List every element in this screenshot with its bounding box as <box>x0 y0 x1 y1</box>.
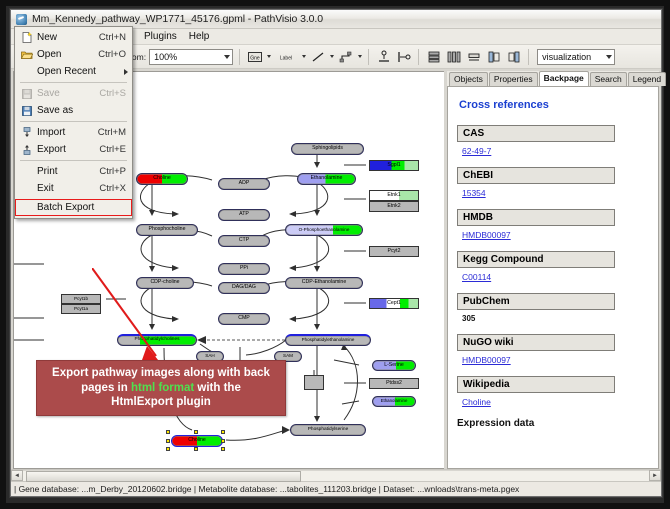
node-label: CTP <box>239 238 249 243</box>
node-label: Sphingolipids <box>312 146 343 151</box>
toolbar-separator <box>239 49 240 65</box>
node-label: ADP <box>239 181 250 186</box>
node-atp[interactable]: ATP <box>218 209 270 221</box>
menu-item-exit-label: Exit <box>34 183 99 194</box>
line-dropdown-icon[interactable] <box>330 55 334 58</box>
resize-handle-se[interactable] <box>221 447 225 451</box>
menu-item-print-accel: Ctrl+P <box>99 166 128 177</box>
node-label: DAG/DAG <box>232 285 256 290</box>
zoom-value: 100% <box>154 52 177 62</box>
node-pemt[interactable] <box>304 375 324 390</box>
menu-item-open-recent-label: Open Recent <box>34 66 124 77</box>
scrollbar-thumb[interactable] <box>26 471 301 482</box>
node-label: Pcyt1b <box>74 297 88 302</box>
visualization-value: visualization <box>542 52 591 62</box>
annot-line2a: pages in <box>81 382 131 394</box>
tab-backpage[interactable]: Backpage <box>539 71 589 86</box>
xref-value-chebi[interactable]: 15354 <box>462 188 649 198</box>
node-adp[interactable]: ADP <box>218 178 270 190</box>
menu-item-new[interactable]: New Ctrl+N <box>15 29 132 46</box>
node-label: SAM <box>283 354 293 359</box>
node-choline-selected[interactable]: Choline <box>171 435 223 447</box>
node-cdp-ethanolamine[interactable]: CDP-Ethanolamine <box>285 277 363 289</box>
annot-line3: HtmlExport plugin <box>111 396 211 408</box>
line-tool-icon[interactable] <box>309 48 326 66</box>
datanode-dropdown-icon[interactable] <box>267 55 271 58</box>
interaction-dropdown-icon[interactable] <box>358 55 362 58</box>
menu-item-import[interactable]: Import Ctrl+M <box>15 124 132 141</box>
menu-item-print[interactable]: Print Ctrl+P <box>15 163 132 180</box>
node-ptdss2[interactable]: Ptdss2 <box>369 378 419 389</box>
xref-value-kegg[interactable]: C00114 <box>462 272 649 282</box>
xref-link-hmdb[interactable]: HMDB00097 <box>462 230 511 240</box>
node-label: SAH <box>205 354 214 359</box>
datanode-tool-icon[interactable]: Gne <box>246 48 263 66</box>
node-choline[interactable]: Choline <box>136 173 188 185</box>
export-icon <box>19 144 34 155</box>
horizontal-scrollbar[interactable]: ◄ ► <box>11 469 661 481</box>
resize-handle-ne[interactable] <box>221 430 225 434</box>
node-etnk2[interactable]: Etnk2 <box>369 201 419 212</box>
xref-value-cas[interactable]: 62-49-7 <box>462 146 649 156</box>
callout-arrow-icon <box>92 268 192 373</box>
node-label: Pcyt2 <box>388 249 401 254</box>
annot-line2b: with the <box>194 382 241 394</box>
scrollbar-track[interactable] <box>23 470 649 481</box>
menu-help[interactable]: Help <box>183 29 216 44</box>
node-label: CMP <box>238 316 250 321</box>
menu-item-export-accel: Ctrl+E <box>99 144 128 155</box>
send-to-back-icon[interactable] <box>505 48 522 66</box>
menu-separator-2 <box>20 121 127 122</box>
tab-search[interactable]: Search <box>590 72 627 86</box>
menu-item-save[interactable]: Save Ctrl+S <box>15 85 132 102</box>
node-pcyt2[interactable]: Pcyt2 <box>369 246 419 257</box>
node-label: Cept1 <box>387 301 401 306</box>
xref-value-pubchem: 305 <box>462 314 649 323</box>
menu-item-import-accel: Ctrl+M <box>98 127 128 138</box>
resize-handle-w[interactable] <box>166 439 170 443</box>
resize-handle-s[interactable] <box>194 447 198 451</box>
same-width-icon[interactable] <box>465 48 482 66</box>
resize-handle-n[interactable] <box>194 430 198 434</box>
backpage-content: Cross references CAS 62-49-7 ChEBI 15354… <box>447 86 659 469</box>
menu-separator-3 <box>20 160 127 161</box>
node-label: Ethanolamine <box>311 176 343 181</box>
menu-item-open-accel: Ctrl+O <box>98 49 128 60</box>
xref-link-kegg[interactable]: C00114 <box>462 272 491 282</box>
xref-value-hmdb[interactable]: HMDB00097 <box>462 230 649 240</box>
distribute-horizontal-icon[interactable] <box>445 48 462 66</box>
menu-item-save-accel: Ctrl+S <box>99 88 128 99</box>
menu-item-exit-accel: Ctrl+X <box>99 183 128 194</box>
annot-line1: Export pathway images along with back <box>52 367 270 379</box>
bring-to-front-icon[interactable] <box>485 48 502 66</box>
import-icon <box>19 127 34 138</box>
menu-item-new-accel: Ctrl+N <box>99 32 128 43</box>
chevron-down-icon-2 <box>606 55 612 59</box>
status-text: | Gene database: ...m_Derby_20120602.bri… <box>14 484 519 494</box>
node-l-serine[interactable]: L-Serine <box>372 360 416 371</box>
pathvisio-window: Mm_Kennedy_pathway_WP1771_45176.gpml - P… <box>10 9 662 497</box>
window-title: Mm_Kennedy_pathway_WP1771_45176.gpml - P… <box>32 13 323 25</box>
svg-text:Gne: Gne <box>250 55 260 61</box>
xref-link-cas[interactable]: 62-49-7 <box>462 146 491 156</box>
node-label: ATP <box>239 212 249 217</box>
screenshot-root: Mm_Kennedy_pathway_WP1771_45176.gpml - P… <box>0 0 670 509</box>
node-ctp[interactable]: CTP <box>218 235 270 247</box>
interaction-tool-icon[interactable] <box>337 48 354 66</box>
menu-item-save-label: Save <box>34 88 99 99</box>
label-dropdown-icon[interactable] <box>302 55 306 58</box>
node-etnk1[interactable]: Etnk1 <box>369 190 419 201</box>
visualization-combo[interactable]: visualization <box>537 49 615 65</box>
menu-item-open-recent[interactable]: Open Recent <box>15 63 132 80</box>
toolbar-separator-3 <box>418 49 419 65</box>
align-left-icon[interactable] <box>395 48 412 66</box>
node-phosphatidylethanolamine[interactable]: Phosphatidylethanolamine <box>285 334 371 346</box>
menu-item-open[interactable]: Open Ctrl+O <box>15 46 132 63</box>
node-label: Phosphocholine <box>149 227 186 232</box>
xref-value-nugo[interactable]: HMDB00097 <box>462 355 649 365</box>
xref-header-chebi: ChEBI <box>457 167 615 184</box>
label-tool-icon[interactable]: Label <box>274 48 298 66</box>
node-label: O-Phosphoethanolamine <box>299 228 350 233</box>
menu-item-import-label: Import <box>34 127 98 138</box>
node-label: Phosphatidylserine <box>308 428 349 433</box>
xref-header-cas: CAS <box>457 125 615 142</box>
node-ppi[interactable]: PPi <box>218 263 270 275</box>
node-label: Phosphatidylethanolamine <box>302 338 355 343</box>
node-label: Etnk2 <box>387 204 400 209</box>
node-label: L-Serine <box>384 363 404 368</box>
menu-item-exit[interactable]: Exit Ctrl+X <box>15 180 132 197</box>
node-label: Sgpl1 <box>387 163 400 168</box>
tab-properties[interactable]: Properties <box>489 72 538 86</box>
node-label: PPi <box>240 266 248 271</box>
stack-center-icon[interactable] <box>425 48 442 66</box>
node-label: Choline <box>153 176 171 181</box>
xref-header-nugo: NuGO wiki <box>457 334 615 351</box>
xref-header-kegg: Kegg Compound <box>457 251 615 268</box>
node-sgpl1[interactable]: Sgpl1 <box>369 160 419 171</box>
menu-item-new-label: New <box>34 32 99 43</box>
node-cept1[interactable]: Cept1 <box>369 298 419 309</box>
backpage-heading: Cross references <box>459 99 649 111</box>
node-o-phosphoethanolamine[interactable]: O-Phosphoethanolamine <box>285 224 363 236</box>
node-label: CDP-Ethanolamine <box>302 280 346 285</box>
svg-text:Label: Label <box>280 55 292 61</box>
chevron-down-icon <box>224 55 230 59</box>
resize-handle-nw[interactable] <box>166 430 170 434</box>
menu-item-batch-export-label: Batch Export <box>34 202 128 213</box>
menu-item-batch-export[interactable]: Batch Export <box>15 199 132 216</box>
tab-legend[interactable]: Legend <box>628 72 666 86</box>
node-ethanolamine-2[interactable]: Ethanolamine <box>372 396 416 407</box>
node-label: Ethanolamine <box>381 399 408 403</box>
menu-item-open-label: Open <box>34 49 98 60</box>
new-document-icon <box>19 32 34 43</box>
save-disk-icon <box>19 89 34 99</box>
save-as-disk-icon <box>19 106 34 116</box>
toolbar-separator-4 <box>528 49 529 65</box>
node-label: Etnk1 <box>387 193 400 198</box>
resize-handle-e[interactable] <box>221 439 225 443</box>
menu-item-print-label: Print <box>34 166 99 177</box>
side-panel: Objects Properties Backpage Search Legen… <box>447 71 659 469</box>
scroll-left-arrow-icon[interactable]: ◄ <box>11 470 23 481</box>
node-label: Pcyt1a <box>74 307 88 312</box>
tab-objects[interactable]: Objects <box>449 72 488 86</box>
node-sphingolipids[interactable]: Sphingolipids <box>291 143 364 155</box>
resize-handle-sw[interactable] <box>166 447 170 451</box>
xref-link-wikipedia[interactable]: Choline <box>462 397 491 407</box>
submenu-arrow-icon <box>124 69 128 75</box>
side-panel-tabs: Objects Properties Backpage Search Legen… <box>447 71 659 86</box>
menu-separator-1 <box>20 82 127 83</box>
align-top-icon[interactable] <box>375 48 392 66</box>
zoom-combo[interactable]: 100% <box>149 49 233 65</box>
menu-item-export[interactable]: Export Ctrl+E <box>15 141 132 158</box>
scroll-right-arrow-icon[interactable]: ► <box>649 470 661 481</box>
xref-header-wikipedia: Wikipedia <box>457 376 615 393</box>
expression-data-heading: Expression data <box>457 418 649 429</box>
node-dag[interactable]: DAG/DAG <box>218 282 270 294</box>
xref-header-pubchem: PubChem <box>457 293 615 310</box>
node-phosphocholine[interactable]: Phosphocholine <box>136 224 198 236</box>
annot-line2-green: html format <box>131 382 194 394</box>
node-phosphatidylserine[interactable]: Phosphatidylserine <box>290 424 366 436</box>
folder-open-icon <box>19 50 34 60</box>
node-ethanolamine-1[interactable]: Ethanolamine <box>297 173 356 185</box>
toolbar-separator-2 <box>368 49 369 65</box>
xref-link-chebi[interactable]: 15354 <box>462 188 486 198</box>
xref-link-nugo[interactable]: HMDB00097 <box>462 355 511 365</box>
menu-plugins[interactable]: Plugins <box>138 29 183 44</box>
annotation-callout: Export pathway images along with back pa… <box>36 360 286 416</box>
menu-item-save-as-label: Save as <box>34 105 126 116</box>
xref-header-hmdb: HMDB <box>457 209 615 226</box>
status-bar: | Gene database: ...m_Derby_20120602.bri… <box>11 481 661 496</box>
menu-item-export-label: Export <box>34 144 99 155</box>
file-menu-dropdown: New Ctrl+N Open Ctrl+O Open Recent <box>14 26 133 219</box>
menu-item-save-as[interactable]: Save as <box>15 102 132 119</box>
node-label: Choline <box>188 438 206 443</box>
xref-value-wikipedia[interactable]: Choline <box>462 397 649 407</box>
node-label: Ptdss2 <box>386 381 402 386</box>
pathvisio-icon <box>16 14 27 25</box>
node-cmp[interactable]: CMP <box>218 313 270 325</box>
